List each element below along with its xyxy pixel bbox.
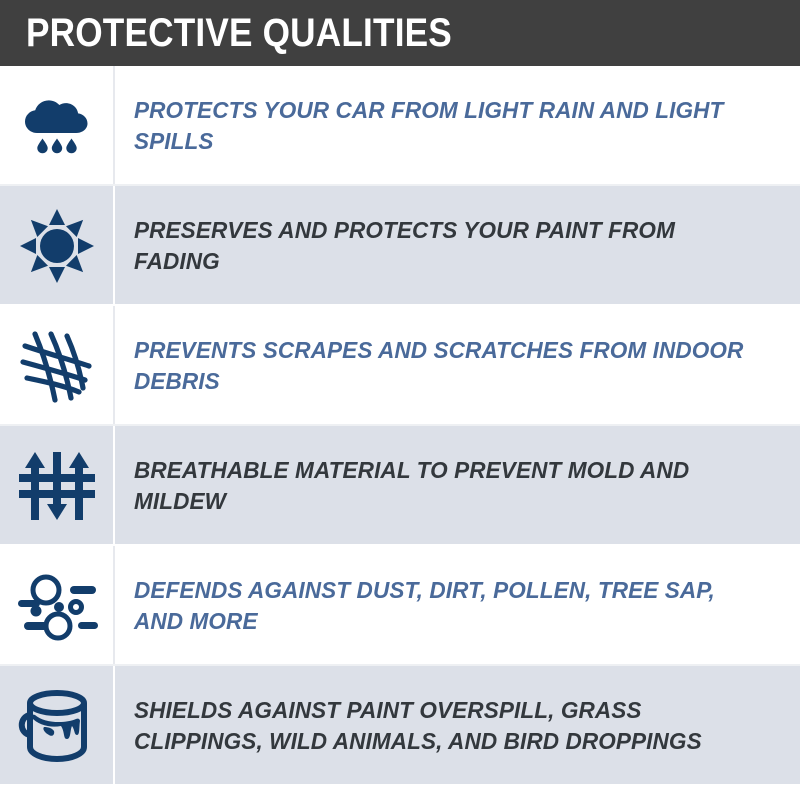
header-bar: PROTECTIVE QUALITIES [0,0,800,66]
icon-cell [0,66,113,186]
text-cell: DEFENDS AGAINST DUST, DIRT, POLLEN, TREE… [115,546,800,666]
feature-text: DEFENDS AGAINST DUST, DIRT, POLLEN, TREE… [134,575,750,637]
breathable-airflow-arrows-icon [15,446,99,526]
text-cell: PRESERVES AND PROTECTS YOUR PAINT FROM F… [115,186,800,306]
feature-row: PRESERVES AND PROTECTS YOUR PAINT FROM F… [0,186,800,306]
icon-cell [0,666,113,786]
icon-cell [0,426,113,546]
feature-row: PROTECTS YOUR CAR FROM LIGHT RAIN AND LI… [0,66,800,186]
feature-row: PREVENTS SCRAPES AND SCRATCHES FROM INDO… [0,306,800,426]
text-cell: SHIELDS AGAINST PAINT OVERSPILL, GRASS C… [115,666,800,786]
feature-list: PROTECTS YOUR CAR FROM LIGHT RAIN AND LI… [0,66,800,786]
feature-text: PRESERVES AND PROTECTS YOUR PAINT FROM F… [134,215,750,277]
icon-cell [0,186,113,306]
feature-text: BREATHABLE MATERIAL TO PREVENT MOLD AND … [134,455,750,517]
paint-can-icon [14,683,100,769]
icon-cell [0,546,113,666]
feature-row: BREATHABLE MATERIAL TO PREVENT MOLD AND … [0,426,800,546]
text-cell: PREVENTS SCRAPES AND SCRATCHES FROM INDO… [115,306,800,426]
rain-cloud-icon [17,86,97,166]
infographic-panel: PROTECTIVE QUALITIES PROTECTS YOUR CAR F… [0,0,800,800]
feature-row: SHIELDS AGAINST PAINT OVERSPILL, GRASS C… [0,666,800,786]
mesh-net-icon [15,324,99,408]
feature-row: DEFENDS AGAINST DUST, DIRT, POLLEN, TREE… [0,546,800,666]
dust-particles-icon [14,566,100,646]
text-cell: BREATHABLE MATERIAL TO PREVENT MOLD AND … [115,426,800,546]
page-title: PROTECTIVE QUALITIES [26,13,452,53]
feature-text: SHIELDS AGAINST PAINT OVERSPILL, GRASS C… [134,695,750,757]
text-cell: PROTECTS YOUR CAR FROM LIGHT RAIN AND LI… [115,66,800,186]
feature-text: PREVENTS SCRAPES AND SCRATCHES FROM INDO… [134,335,750,397]
feature-text: PROTECTS YOUR CAR FROM LIGHT RAIN AND LI… [134,95,750,157]
icon-cell [0,306,113,426]
sun-icon [17,206,97,286]
